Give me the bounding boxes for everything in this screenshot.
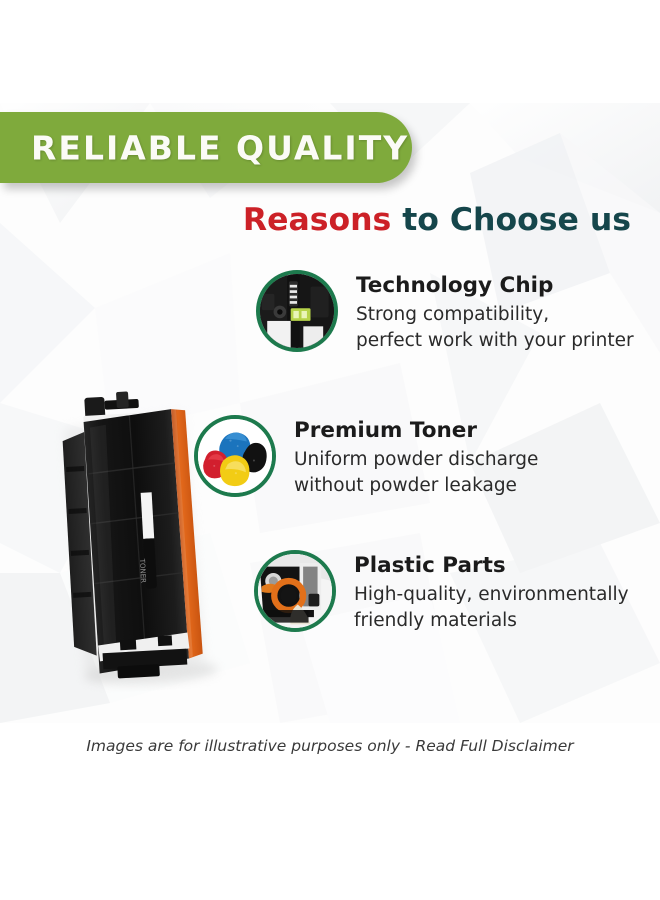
- feature-line: friendly materials: [354, 608, 629, 634]
- technology-chip-icon: [256, 270, 338, 352]
- feature-line: High-quality, environmentally: [354, 582, 629, 608]
- feature-row-premium-toner: Premium Toner Uniform powder discharge w…: [194, 415, 538, 499]
- feature-text-plastic-parts: Plastic Parts High-quality, environmenta…: [354, 550, 629, 634]
- feature-text-technology-chip: Technology Chip Strong compatibility, pe…: [356, 270, 634, 354]
- page-title-emphasis: Reasons: [243, 202, 391, 238]
- svg-text:TONER: TONER: [138, 558, 147, 584]
- feature-line: perfect work with your printer: [356, 328, 634, 354]
- plastic-parts-icon: [254, 550, 336, 632]
- product-infographic: RELIABLE QUALITY Reasons to Choose us: [0, 0, 660, 900]
- page-title: Reasons to Choose us: [243, 202, 631, 238]
- feature-title: Technology Chip: [356, 274, 634, 299]
- disclaimer-text: Images are for illustrative purposes onl…: [0, 737, 660, 755]
- feature-row-plastic-parts: Plastic Parts High-quality, environmenta…: [254, 550, 629, 634]
- feature-line: Strong compatibility,: [356, 302, 634, 328]
- reliable-quality-banner: RELIABLE QUALITY: [0, 112, 412, 183]
- premium-toner-icon: [194, 415, 276, 497]
- feature-row-technology-chip: Technology Chip Strong compatibility, pe…: [256, 270, 634, 354]
- banner-label: RELIABLE QUALITY: [31, 128, 409, 167]
- feature-line: without powder leakage: [294, 473, 538, 499]
- feature-title: Premium Toner: [294, 419, 538, 444]
- feature-title: Plastic Parts: [354, 554, 629, 579]
- page-title-rest: to Choose us: [391, 202, 631, 238]
- feature-text-premium-toner: Premium Toner Uniform powder discharge w…: [294, 415, 538, 499]
- feature-line: Uniform powder discharge: [294, 447, 538, 473]
